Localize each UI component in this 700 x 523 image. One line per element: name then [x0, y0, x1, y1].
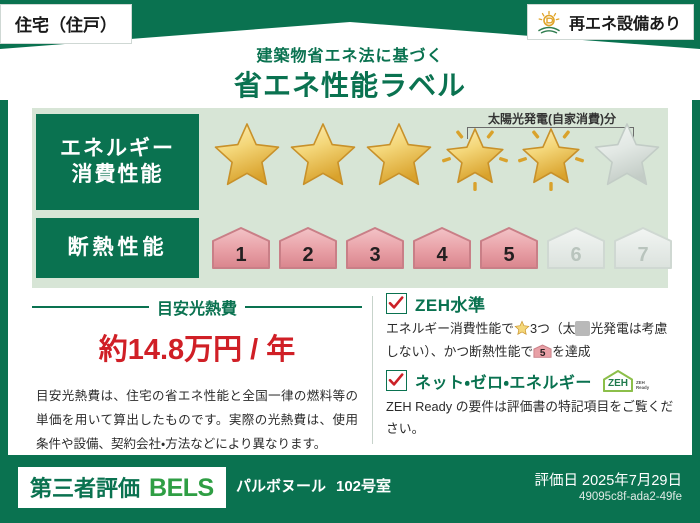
- star-6-empty: [590, 118, 664, 192]
- insulation-grade-4-value: 4: [411, 244, 473, 267]
- bels-badge: 第三者評価 BELS: [18, 467, 226, 508]
- energy-performance-label: 住宅（住戸） 再エネ設備あり 建築物省エネ法に基づく 省エネ性能ラベル: [0, 0, 700, 523]
- insulation-grade-1-value: 1: [210, 244, 272, 267]
- renewable-energy-chip-label: 再エネ設備あり: [569, 10, 681, 34]
- label-footer: 第三者評価 BELS パルボヌール 102号室 評価日 2025年7月29日 4…: [0, 455, 700, 523]
- zeh-section: ZEH水準 エネルギー消費性能で3つ（太光発電は考慮しない）、かつ断熱性能で5を…: [386, 290, 676, 445]
- utility-cost-section: 目安光熱費 約14.8万円 / 年 目安光熱費は、住宅の省エネ性能と全国一律の燃…: [32, 296, 362, 456]
- bels-badge-jp: 第三者評価: [30, 471, 140, 503]
- net-zero-energy-checkbox[interactable]: [386, 370, 407, 391]
- inline-house-value: 5: [533, 345, 552, 363]
- utility-cost-description: 目安光熱費は、住宅の省エネ性能と全国一律の燃料等の単価を用いて算出したものです。…: [36, 384, 358, 456]
- zeh-standard-body: エネルギー消費性能で3つ（太光発電は考慮しない）、かつ断熱性能で5を達成: [386, 318, 676, 364]
- insulation-label: 断熱性能: [68, 235, 168, 261]
- energy-performance-label-box: エネルギー 消費性能: [36, 114, 199, 210]
- net-zero-energy-body: ZEH Ready の要件は評価書の特記項目をご覧ください。: [386, 396, 676, 442]
- utility-cost-heading: 目安光熱費: [32, 296, 362, 318]
- insulation-grade-6-value: 6: [545, 244, 607, 267]
- column-divider: [372, 296, 373, 444]
- sun-icon: [536, 10, 562, 34]
- zeh-standard-body-part3: を達成: [552, 344, 590, 359]
- building-type-chip: 住宅（住戸）: [0, 4, 132, 44]
- net-zero-energy-title: ネット・ゼロ・エネルギー: [415, 369, 592, 393]
- utility-cost-value: 約14.8万円 / 年: [32, 326, 362, 368]
- zeh-standard-header: ZEH水準: [386, 290, 676, 316]
- insulation-performance-label-box: 断熱性能: [36, 218, 199, 278]
- renewable-energy-chip: 再エネ設備あり: [527, 4, 694, 40]
- utility-cost-heading-label: 目安光熱費: [157, 295, 237, 319]
- insulation-grade-5-on: 5: [478, 224, 540, 274]
- zeh-standard-body-part1: エネルギー消費性能で: [386, 321, 514, 336]
- inline-star-icon: [514, 320, 530, 336]
- insulation-grade-scale: 1 2 3: [210, 224, 674, 274]
- inline-house-icon: 5: [533, 343, 552, 360]
- star-5-filled-solar: [514, 118, 588, 192]
- evaluation-id: 49095c8f-ada2-49fe: [579, 491, 682, 503]
- evaluation-date: 評価日 2025年7月29日: [535, 469, 682, 490]
- energy-label-line1: エネルギー: [60, 136, 175, 162]
- svg-text:Ready: Ready: [636, 385, 650, 390]
- insulation-grade-6-off: 6: [545, 224, 607, 274]
- insulation-grade-1-on: 1: [210, 224, 272, 274]
- building-name: パルボヌール: [236, 475, 326, 496]
- label-card: エネルギー 消費性能 太陽光発電(自家消費)分: [8, 100, 692, 455]
- insulation-grade-7-value: 7: [612, 244, 674, 267]
- bels-badge-en: BELS: [149, 474, 214, 503]
- room-number: 102号室: [336, 475, 391, 496]
- zeh-standard-star-count: 3つ（太: [530, 321, 576, 336]
- net-zero-energy-item: ネット・ゼロ・エネルギー ZEH ZEH Ready ZEH Ready の要件…: [386, 368, 676, 442]
- zeh-standard-checkbox[interactable]: [386, 293, 407, 314]
- zeh-standard-title: ZEH水準: [415, 291, 486, 316]
- insulation-grade-2-value: 2: [277, 244, 339, 267]
- energy-label-line2: 消費性能: [72, 162, 164, 188]
- insulation-grade-4-on: 4: [411, 224, 473, 274]
- heading-rule-left: [32, 306, 149, 308]
- zeh-ready-logo-icon: ZEH ZEH Ready: [600, 368, 652, 394]
- zeh-standard-item: ZEH水準 エネルギー消費性能で3つ（太光発電は考慮しない）、かつ断熱性能で5を…: [386, 290, 676, 364]
- label-subtitle: 建築物省エネ法に基づく: [0, 42, 700, 66]
- star-4-filled-solar: [438, 118, 512, 192]
- check-icon: [388, 295, 404, 311]
- label-title: 省エネ性能ラベル: [0, 64, 700, 104]
- insulation-grade-3-on: 3: [344, 224, 406, 274]
- star-2-filled: [286, 118, 360, 192]
- insulation-performance-row: 断熱性能 1: [32, 226, 668, 274]
- inline-redacted-mark: [575, 321, 590, 336]
- insulation-grade-5-value: 5: [478, 244, 540, 267]
- insulation-grade-2-on: 2: [277, 224, 339, 274]
- insulation-grade-3-value: 3: [344, 244, 406, 267]
- star-1-filled: [210, 118, 284, 192]
- svg-text:ZEH: ZEH: [608, 378, 628, 389]
- net-zero-energy-header: ネット・ゼロ・エネルギー ZEH ZEH Ready: [386, 368, 676, 394]
- performance-panel: エネルギー 消費性能 太陽光発電(自家消費)分: [32, 108, 668, 288]
- energy-performance-row: エネルギー 消費性能 太陽光発電(自家消費)分: [32, 138, 668, 210]
- star-3-filled: [362, 118, 436, 192]
- check-icon: [388, 372, 404, 388]
- energy-star-rating: [210, 118, 664, 192]
- heading-rule-right: [245, 306, 362, 308]
- insulation-grade-7-off: 7: [612, 224, 674, 274]
